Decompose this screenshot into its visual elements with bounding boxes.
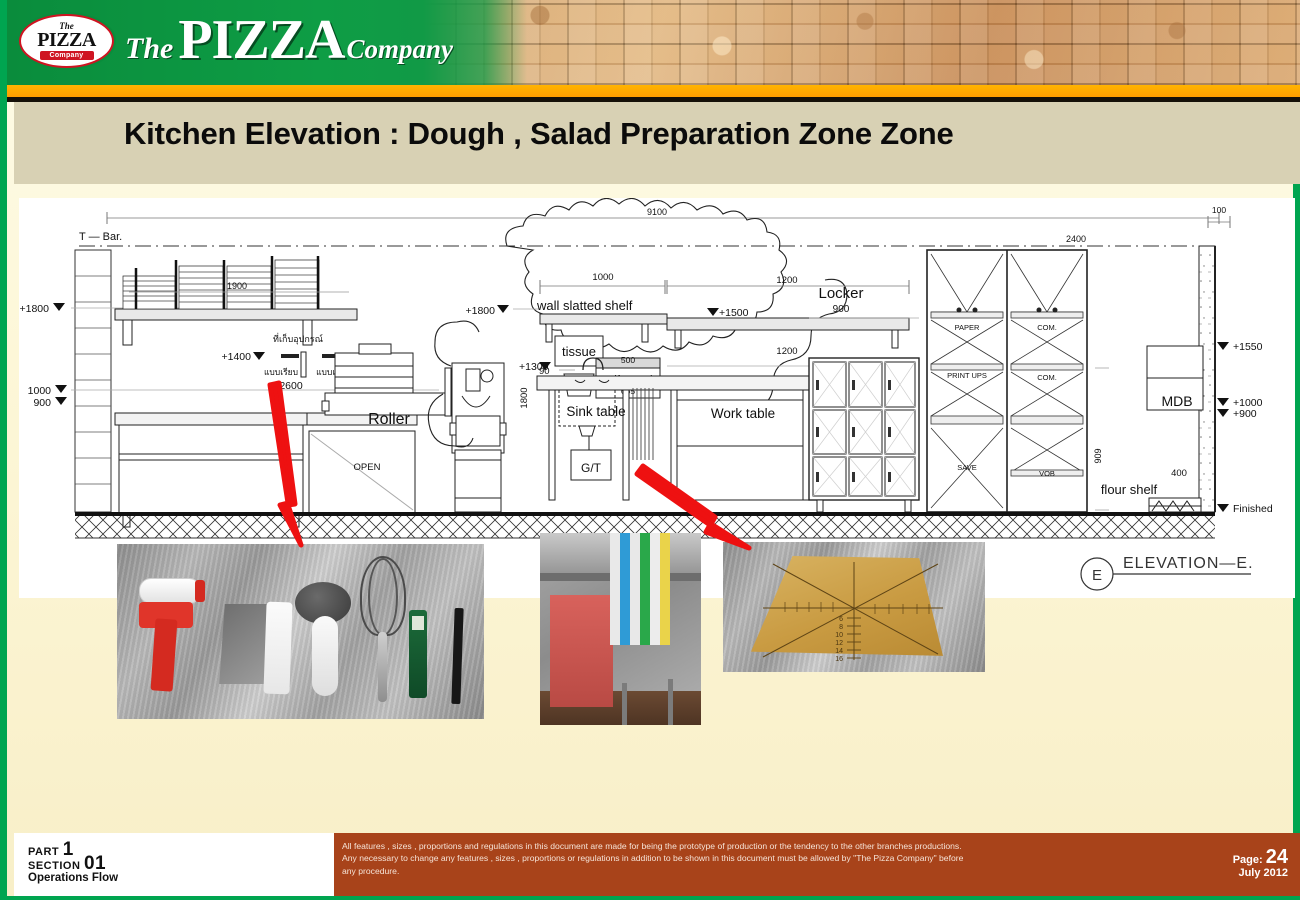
footer-disclaimer: All features , sizes , proportions and r… bbox=[342, 840, 1122, 877]
label-t-bar: T — Bar. bbox=[79, 231, 122, 243]
dim-overall-9100: 9100 bbox=[647, 207, 667, 217]
wordmark-the: The bbox=[125, 32, 173, 66]
label-roller: Roller bbox=[368, 411, 410, 428]
white-cutting-board-2 bbox=[630, 533, 640, 645]
dim-909: 909 bbox=[1093, 448, 1103, 463]
label-shelf-paper: PAPER bbox=[955, 323, 980, 332]
dough-roller-cap bbox=[195, 580, 205, 602]
label-tissue: tissue bbox=[562, 344, 596, 359]
table-leg-front bbox=[622, 683, 627, 725]
level-left-1000: 1000 bbox=[28, 385, 52, 397]
footer-part-section: PART 1 SECTION 01 Operations Flow bbox=[14, 833, 334, 896]
footer-date: July 2012 bbox=[1238, 867, 1288, 879]
label-flat-type-th: แบบเรียบ bbox=[264, 367, 298, 377]
footer-disclaimer-bar: All features , sizes , proportions and r… bbox=[334, 833, 1130, 896]
blue-cutting-board bbox=[620, 533, 630, 645]
footer-page-label: Page: bbox=[1233, 854, 1263, 866]
slide-root: The PIZZA Company The PIZZA Company Kitc… bbox=[0, 0, 1300, 900]
label-grease-trap: G/T bbox=[581, 461, 602, 475]
svg-text:6: 6 bbox=[839, 616, 843, 623]
view-tag-label: ELEVATION—E. bbox=[1123, 555, 1254, 572]
footer-page: Page: 24 bbox=[1233, 846, 1288, 869]
green-cutting-board bbox=[640, 533, 650, 645]
label-shelf-print-ups: PRINT UPS bbox=[947, 371, 987, 380]
red-cutting-board bbox=[550, 595, 613, 707]
level-1500: +1500 bbox=[719, 307, 749, 319]
white-cutting-board bbox=[610, 533, 620, 645]
svg-text:10: 10 bbox=[835, 632, 843, 639]
page-title: Kitchen Elevation : Dough , Salad Prepar… bbox=[124, 116, 954, 152]
label-locker: Locker bbox=[818, 285, 863, 302]
level-1400: +1400 bbox=[222, 351, 252, 363]
footer-section-number: 01 bbox=[84, 853, 106, 874]
thermometer-display bbox=[412, 616, 424, 630]
pizza-cutter-handle bbox=[312, 616, 338, 696]
label-flour-shelf: flour shelf bbox=[1101, 482, 1158, 497]
disclaimer-line-1: All features , sizes , proportions and r… bbox=[342, 840, 1122, 852]
svg-text:12: 12 bbox=[835, 640, 843, 647]
slide-footer: PART 1 SECTION 01 Operations Flow All fe… bbox=[14, 833, 1300, 896]
logo-badge-company: Company bbox=[40, 51, 94, 60]
dough-roller-drum bbox=[139, 578, 201, 604]
footer-page-info: Page: 24 July 2012 bbox=[1130, 833, 1300, 896]
dim-wall-100: 100 bbox=[1212, 205, 1226, 215]
board-scale-markings: 6810 121416 bbox=[723, 542, 985, 672]
dim-900-locker: 900 bbox=[833, 304, 850, 315]
label-shelf-com-2: COM. bbox=[1037, 373, 1057, 382]
dim-shelf-1900: 1900 bbox=[227, 281, 247, 291]
cutting-boards-photo bbox=[540, 533, 701, 725]
slide-header: The PIZZA Company The PIZZA Company bbox=[7, 0, 1300, 85]
dim-90: 90 bbox=[539, 366, 550, 377]
view-tag-letter: E bbox=[1092, 567, 1102, 584]
footer-page-number: 24 bbox=[1266, 846, 1288, 868]
dim-1200-upper: 1200 bbox=[776, 275, 797, 286]
wordmark-company: Company bbox=[346, 34, 453, 65]
label-shelf-save: SAVE bbox=[957, 463, 976, 472]
dim-1800-vertical: 1800 bbox=[519, 387, 530, 408]
yellow-cutting-board bbox=[660, 533, 670, 645]
level-left-1800: +1800 bbox=[20, 303, 50, 315]
label-shelf-com-1: COM. bbox=[1037, 323, 1057, 332]
brand-wordmark: The PIZZA Company bbox=[125, 8, 453, 72]
footer-operations-flow: Operations Flow bbox=[28, 872, 118, 884]
whisk-wires-inner bbox=[368, 558, 398, 636]
dim-1200-lower: 1200 bbox=[776, 346, 797, 357]
dough-tools-photo bbox=[117, 544, 484, 719]
logo-badge-pizza: PIZZA bbox=[37, 30, 96, 50]
footer-section-label: SECTION bbox=[28, 860, 80, 872]
dough-sizing-board-photo: 6810 121416 bbox=[723, 542, 985, 672]
label-shelf-vob: VOB bbox=[1039, 469, 1055, 478]
disclaimer-line-3: any procedure. bbox=[342, 865, 1122, 877]
level-finished: Finished bbox=[1233, 503, 1273, 515]
level-900: +900 bbox=[1233, 408, 1257, 420]
metal-scraper bbox=[219, 604, 270, 684]
dim-2400: 2400 bbox=[1066, 234, 1086, 244]
pizza-company-logo-badge: The PIZZA Company bbox=[19, 14, 114, 68]
svg-text:14: 14 bbox=[835, 648, 843, 655]
label-wall-slatted-shelf: wall slatted shelf bbox=[536, 298, 633, 313]
white-cutting-board-3 bbox=[650, 533, 660, 645]
disclaimer-line-2: Any necessary to change any features , s… bbox=[342, 852, 1122, 864]
svg-text:8: 8 bbox=[839, 624, 843, 631]
label-mdb: MDB bbox=[1161, 393, 1192, 409]
level-mid-1800: +1800 bbox=[466, 305, 496, 317]
label-open: OPEN bbox=[354, 462, 381, 473]
level-1550: +1550 bbox=[1233, 341, 1263, 353]
level-left-900: 900 bbox=[33, 397, 51, 409]
dim-1000: 1000 bbox=[592, 272, 613, 283]
title-band: Kitchen Elevation : Dough , Salad Prepar… bbox=[14, 102, 1300, 184]
table-leg-back bbox=[668, 679, 673, 725]
label-equipment-store-th: ที่เก็บอุปกรณ์ bbox=[273, 332, 323, 345]
orange-divider-bar bbox=[7, 85, 1300, 97]
wordmark-pizza: PIZZA bbox=[178, 8, 344, 72]
label-sink-table: Sink table bbox=[566, 404, 625, 419]
label-work-table: Work table bbox=[711, 406, 775, 421]
dim-400: 400 bbox=[1171, 468, 1187, 479]
whisk-handle bbox=[378, 632, 387, 702]
dim-2600: 2600 bbox=[279, 380, 303, 392]
dim-500: 500 bbox=[621, 355, 635, 365]
white-scraper bbox=[263, 602, 292, 695]
svg-text:16: 16 bbox=[835, 656, 843, 663]
